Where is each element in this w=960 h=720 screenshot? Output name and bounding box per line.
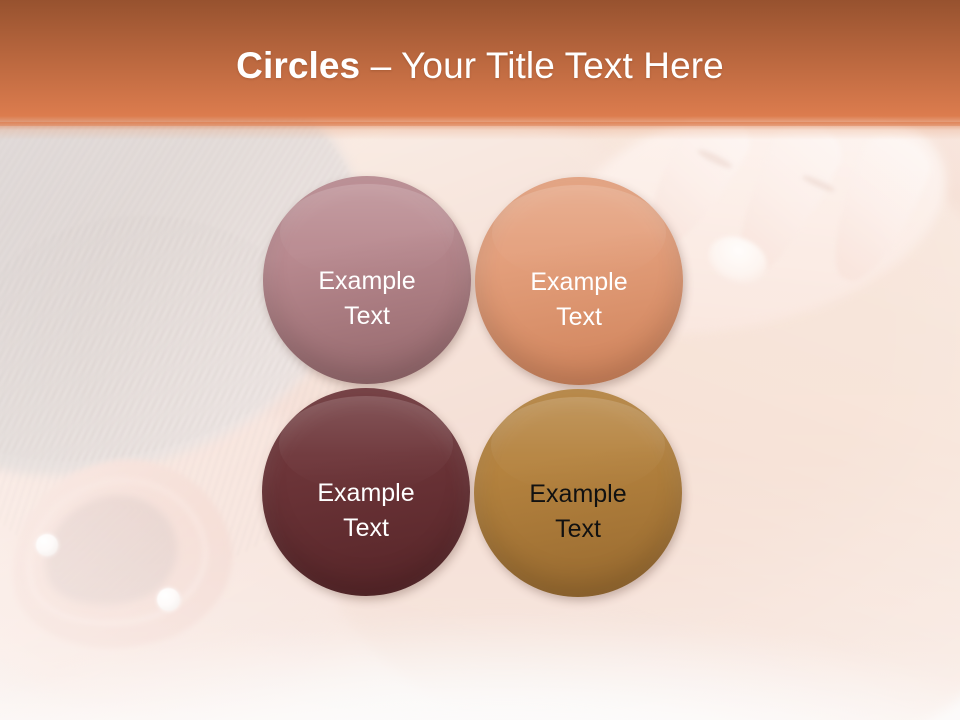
earring-upper-icon: [36, 534, 58, 556]
circle-top-left-line2: Text: [344, 302, 390, 330]
title-strong-part: Circles: [236, 45, 360, 86]
circle-bottom-right-line1: Example: [529, 480, 626, 508]
title-rest-part: – Your Title Text Here: [360, 45, 724, 86]
circle-bottom-left[interactable]: Example Text: [262, 388, 470, 596]
circle-top-left-label: Example Text: [304, 264, 429, 335]
circle-bottom-right[interactable]: Example Text: [474, 389, 682, 597]
circle-bottom-right-label: Example Text: [515, 477, 640, 548]
circle-bottom-left-line1: Example: [317, 479, 414, 507]
circle-top-left-line1: Example: [318, 267, 415, 295]
presentation-slide: Circles – Your Title Text Here Example T…: [0, 0, 960, 720]
circle-bottom-left-label: Example Text: [303, 476, 428, 547]
circle-top-left[interactable]: Example Text: [263, 176, 471, 384]
circle-top-right-line1: Example: [530, 268, 627, 296]
title-banner: Circles – Your Title Text Here: [0, 0, 960, 126]
circle-bottom-left-line2: Text: [343, 514, 389, 542]
circle-top-right[interactable]: Example Text: [475, 177, 683, 385]
circle-top-right-line2: Text: [556, 303, 602, 331]
towel-shape: [0, 576, 960, 720]
circle-bottom-right-line2: Text: [555, 515, 601, 543]
page-title[interactable]: Circles – Your Title Text Here: [236, 47, 724, 84]
circle-top-right-label: Example Text: [516, 265, 641, 336]
